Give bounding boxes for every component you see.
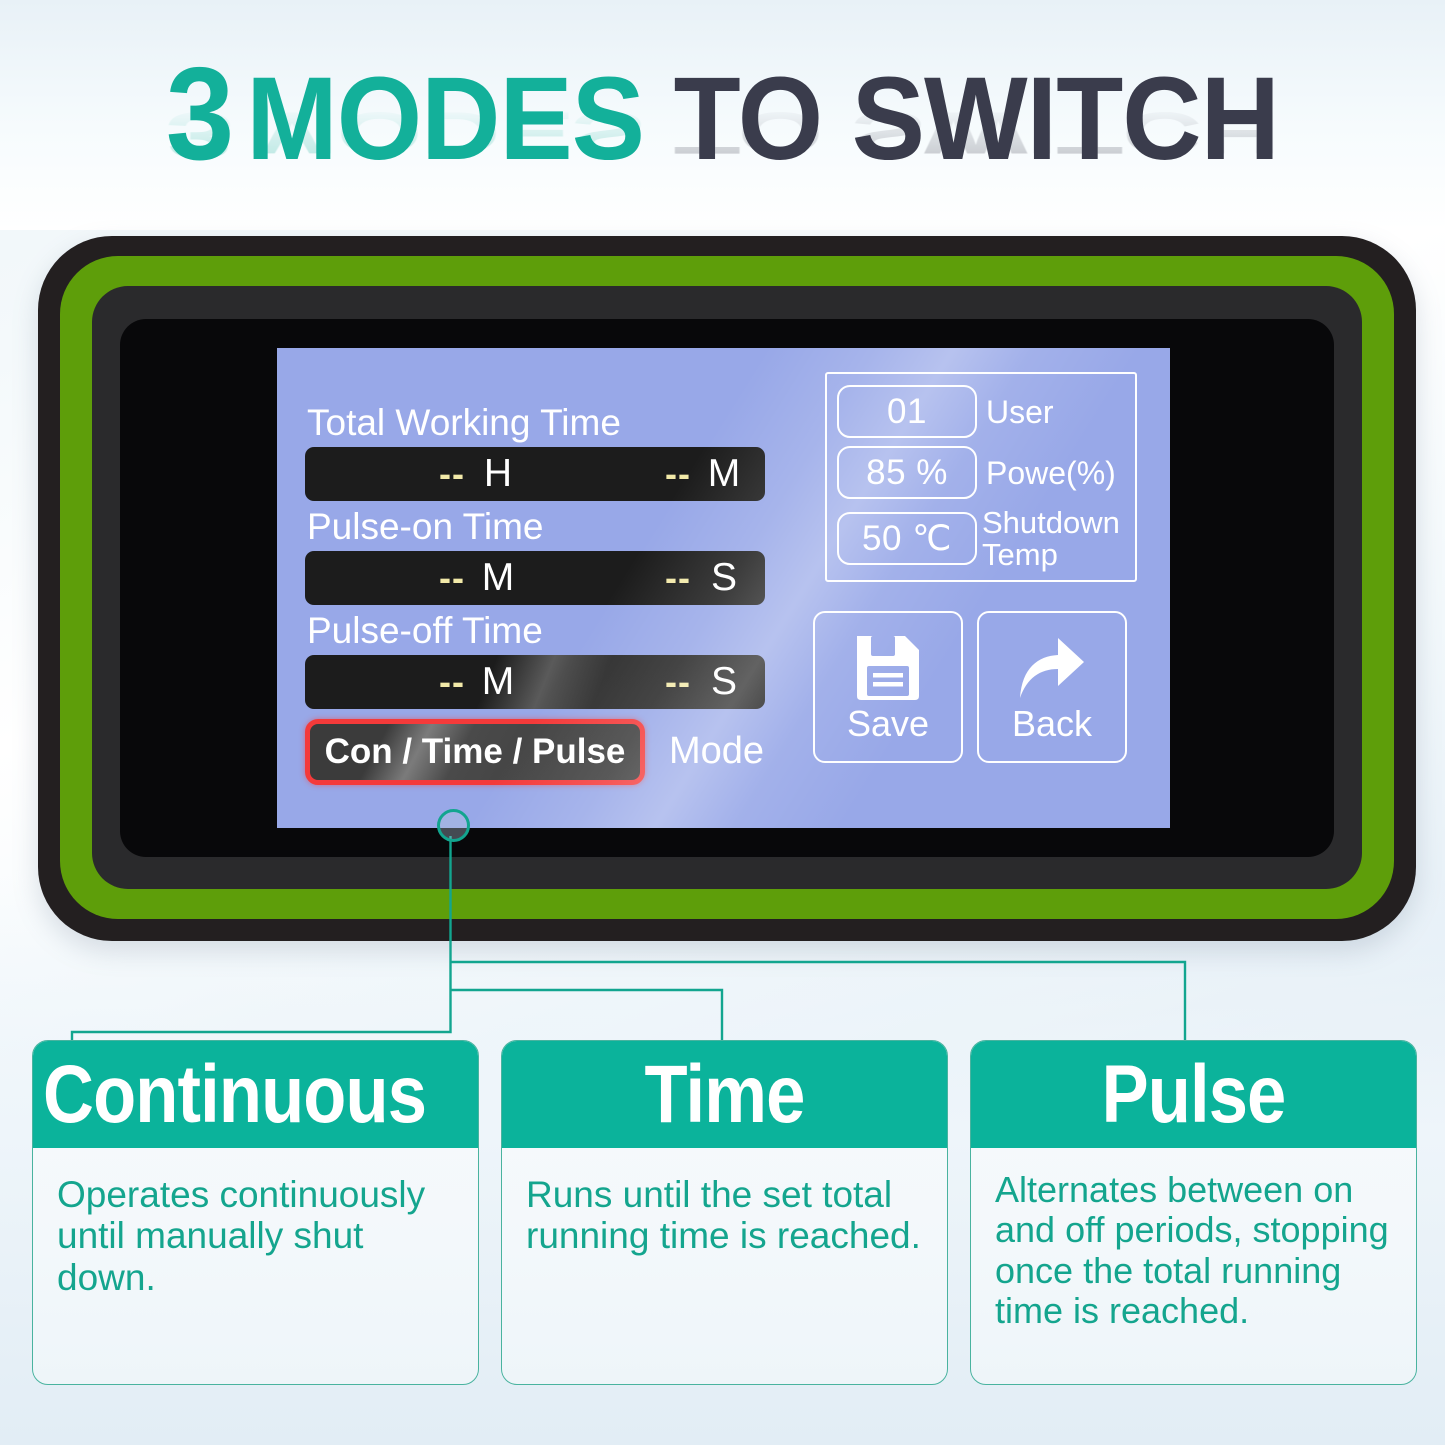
title-number: 3 [166, 40, 233, 187]
total-working-time-label: Total Working Time [307, 404, 765, 443]
pulse-on-seconds-value: -- [531, 557, 691, 599]
floppy-disk-icon [849, 632, 927, 704]
mode-callout-marker [437, 809, 470, 842]
back-button-label: Back [1012, 706, 1092, 742]
shutdown-temp-value-chip[interactable]: 50 ℃ [837, 512, 977, 565]
user-parameter-label: User [986, 396, 1054, 428]
mode-card-continuous: Continuous Operates continuously until m… [32, 1040, 479, 1385]
mode-caption: Mode [669, 730, 764, 773]
title-number-reflection: 3 [166, 99, 233, 173]
pulse-on-time-label: Pulse-on Time [307, 508, 765, 547]
user-parameter-row: 01 User [837, 385, 1125, 438]
pulse-off-seconds-value: -- [531, 661, 691, 703]
mode-card-pulse: Pulse Alternates between on and off peri… [970, 1040, 1417, 1385]
mode-card-pulse-header: Pulse [971, 1041, 1416, 1148]
curved-arrow-right-icon [1013, 632, 1091, 704]
save-button[interactable]: Save [813, 611, 963, 763]
power-value-chip[interactable]: 85 % [837, 446, 977, 499]
page-title-reflection: 3MODES TO SWITCH [0, 102, 1445, 168]
mode-toggle-label: Con / Time / Pulse [325, 732, 626, 772]
pulse-on-time-field[interactable]: -- M -- S [305, 551, 765, 605]
screen-right-column: 01 User 85 % Powe(%) 50 ℃ Shutdown Temp [825, 372, 1143, 763]
total-working-time-minutes-unit: M [691, 452, 757, 496]
pulse-on-minutes-unit: M [465, 556, 531, 600]
mode-card-time-title: Time [542, 1054, 908, 1136]
total-working-time-hours-value: -- [305, 453, 465, 495]
pulse-on-seconds-unit: S [691, 556, 757, 600]
total-working-time-hours-unit: H [465, 452, 531, 496]
mode-card-continuous-body: Operates continuously until manually shu… [33, 1148, 478, 1316]
title-teal-word-reflection: MODES [246, 100, 644, 166]
title-space [644, 53, 674, 185]
total-working-time-field[interactable]: -- H -- M [305, 447, 765, 501]
mode-toggle-button[interactable]: Con / Time / Pulse [305, 719, 645, 785]
mode-card-pulse-title: Pulse [1011, 1054, 1377, 1136]
shutdown-temp-parameter-row: 50 ℃ Shutdown Temp [837, 507, 1125, 570]
power-parameter-row: 85 % Powe(%) [837, 446, 1125, 499]
mode-card-time: Time Runs until the set total running ti… [501, 1040, 948, 1385]
pulse-off-minutes-value: -- [305, 661, 465, 703]
mode-card-continuous-header: Continuous [33, 1041, 478, 1148]
mode-selector-row: Con / Time / Pulse Mode [305, 719, 765, 785]
mode-card-time-body: Runs until the set total running time is… [502, 1148, 947, 1275]
pulse-off-time-field[interactable]: -- M -- S [305, 655, 765, 709]
pulse-off-minutes-unit: M [465, 660, 531, 704]
page-title: 3MODES TO SWITCH [0, 48, 1445, 180]
title-teal-word: MODES [246, 53, 644, 185]
shutdown-temp-value: 50 ℃ [862, 519, 952, 559]
screen-left-column: Total Working Time -- H -- M Pulse-on Ti… [305, 404, 765, 785]
shutdown-temp-parameter-label: Shutdown Temp [982, 507, 1125, 570]
total-working-time-minutes-value: -- [531, 453, 691, 495]
save-button-label: Save [847, 706, 929, 742]
mode-card-time-header: Time [502, 1041, 947, 1148]
lcd-screen: Total Working Time -- H -- M Pulse-on Ti… [277, 348, 1170, 828]
parameter-panel: 01 User 85 % Powe(%) 50 ℃ Shutdown Temp [825, 372, 1137, 582]
pulse-on-minutes-value: -- [305, 557, 465, 599]
pulse-off-seconds-unit: S [691, 660, 757, 704]
pulse-off-time-label: Pulse-off Time [307, 612, 765, 651]
user-value: 01 [887, 392, 927, 432]
power-parameter-label: Powe(%) [986, 457, 1116, 489]
mode-cards: Continuous Operates continuously until m… [32, 1040, 1417, 1385]
user-value-chip[interactable]: 01 [837, 385, 977, 438]
mode-card-continuous-title: Continuous [43, 1054, 409, 1136]
screen-action-row: Save Back [813, 611, 1143, 763]
background-wash-top [0, 0, 1445, 230]
title-dark-words-reflection [644, 100, 674, 166]
back-button[interactable]: Back [977, 611, 1127, 763]
power-value: 85 % [866, 453, 948, 493]
title-dark-words: TO SWITCH [674, 53, 1279, 185]
mode-card-pulse-body: Alternates between on and off periods, s… [971, 1148, 1416, 1349]
